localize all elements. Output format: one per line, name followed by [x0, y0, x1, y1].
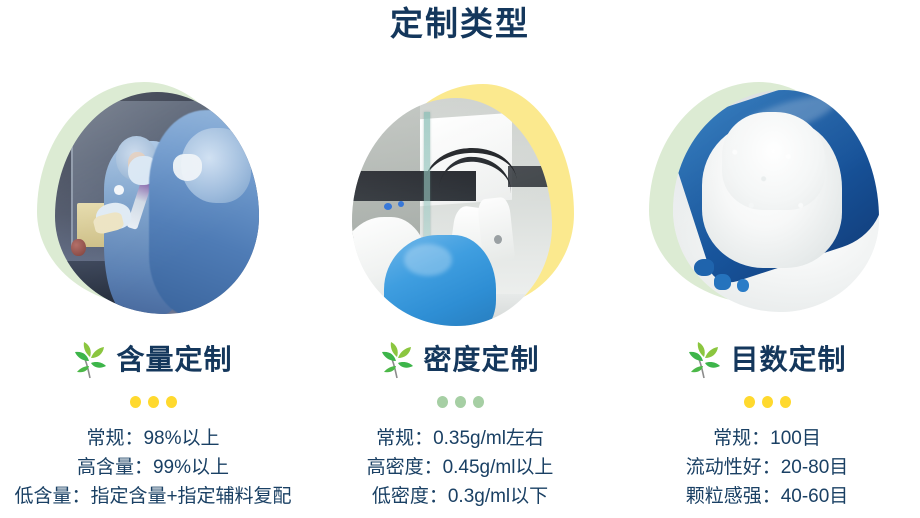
- spec-line: 低密度：0.3g/ml以下: [367, 482, 554, 511]
- card-heading-row: 含量定制: [73, 338, 232, 382]
- dot: [437, 396, 448, 408]
- card-title: 目数定制: [730, 343, 846, 377]
- dot: [455, 396, 466, 408]
- card-spec-list: 常规：100目 流动性好：20-80目 颗粒感强：40-60目: [686, 424, 849, 511]
- page-title: 定制类型: [0, 2, 920, 46]
- spec-line: 高密度：0.45g/ml以上: [367, 453, 554, 482]
- lab-technicians-pipetting-photo: [55, 92, 259, 314]
- leaf-sprout-icon: [73, 341, 107, 379]
- customization-types-page: 定制类型: [0, 0, 920, 518]
- card-spec-list: 常规：98%以上 高含量：99%以上 低含量：指定含量+指定辅料复配: [14, 424, 291, 511]
- card-title: 含量定制: [116, 343, 232, 377]
- dot-decoration: [130, 396, 177, 408]
- card-title: 密度定制: [423, 343, 539, 377]
- dot: [762, 396, 773, 408]
- spec-line: 低含量：指定含量+指定辅料复配: [14, 482, 291, 511]
- spec-line: 颗粒感强：40-60目: [686, 482, 849, 511]
- dot: [744, 396, 755, 408]
- white-powder-blue-scoop-photo: [673, 90, 879, 312]
- card-heading-row: 目数定制: [687, 338, 846, 382]
- photo-blob-content: [33, 82, 273, 326]
- spec-line: 常规：0.35g/ml左右: [367, 424, 554, 453]
- spec-line: 高含量：99%以上: [14, 453, 291, 482]
- dot: [130, 396, 141, 408]
- spec-line: 常规：100目: [686, 424, 849, 453]
- spec-line: 常规：98%以上: [14, 424, 291, 453]
- card-spec-list: 常规：0.35g/ml左右 高密度：0.45g/ml以上 低密度：0.3g/ml…: [367, 424, 554, 511]
- dot: [473, 396, 484, 408]
- dot: [148, 396, 159, 408]
- gloved-hand-lab-equipment-photo: [352, 98, 552, 326]
- customization-card-content: 含量定制 常规：98%以上 高含量：99%以上 低含量：指定含量+指定辅料复配: [0, 62, 306, 518]
- dot: [780, 396, 791, 408]
- leaf-sprout-icon: [687, 341, 721, 379]
- customization-card-mesh: 目数定制 常规：100目 流动性好：20-80目 颗粒感强：40-60目: [614, 62, 920, 518]
- dot-decoration: [744, 396, 791, 408]
- dot: [166, 396, 177, 408]
- photo-blob-mesh: [647, 82, 887, 326]
- customization-card-density: 密度定制 常规：0.35g/ml左右 高密度：0.45g/ml以上 低密度：0.…: [307, 62, 613, 518]
- card-heading-row: 密度定制: [380, 338, 539, 382]
- spec-line: 流动性好：20-80目: [686, 453, 849, 482]
- leaf-sprout-icon: [380, 341, 414, 379]
- photo-blob-density: [340, 82, 580, 326]
- dot-decoration: [437, 396, 484, 408]
- customization-columns: 含量定制 常规：98%以上 高含量：99%以上 低含量：指定含量+指定辅料复配: [0, 62, 920, 518]
